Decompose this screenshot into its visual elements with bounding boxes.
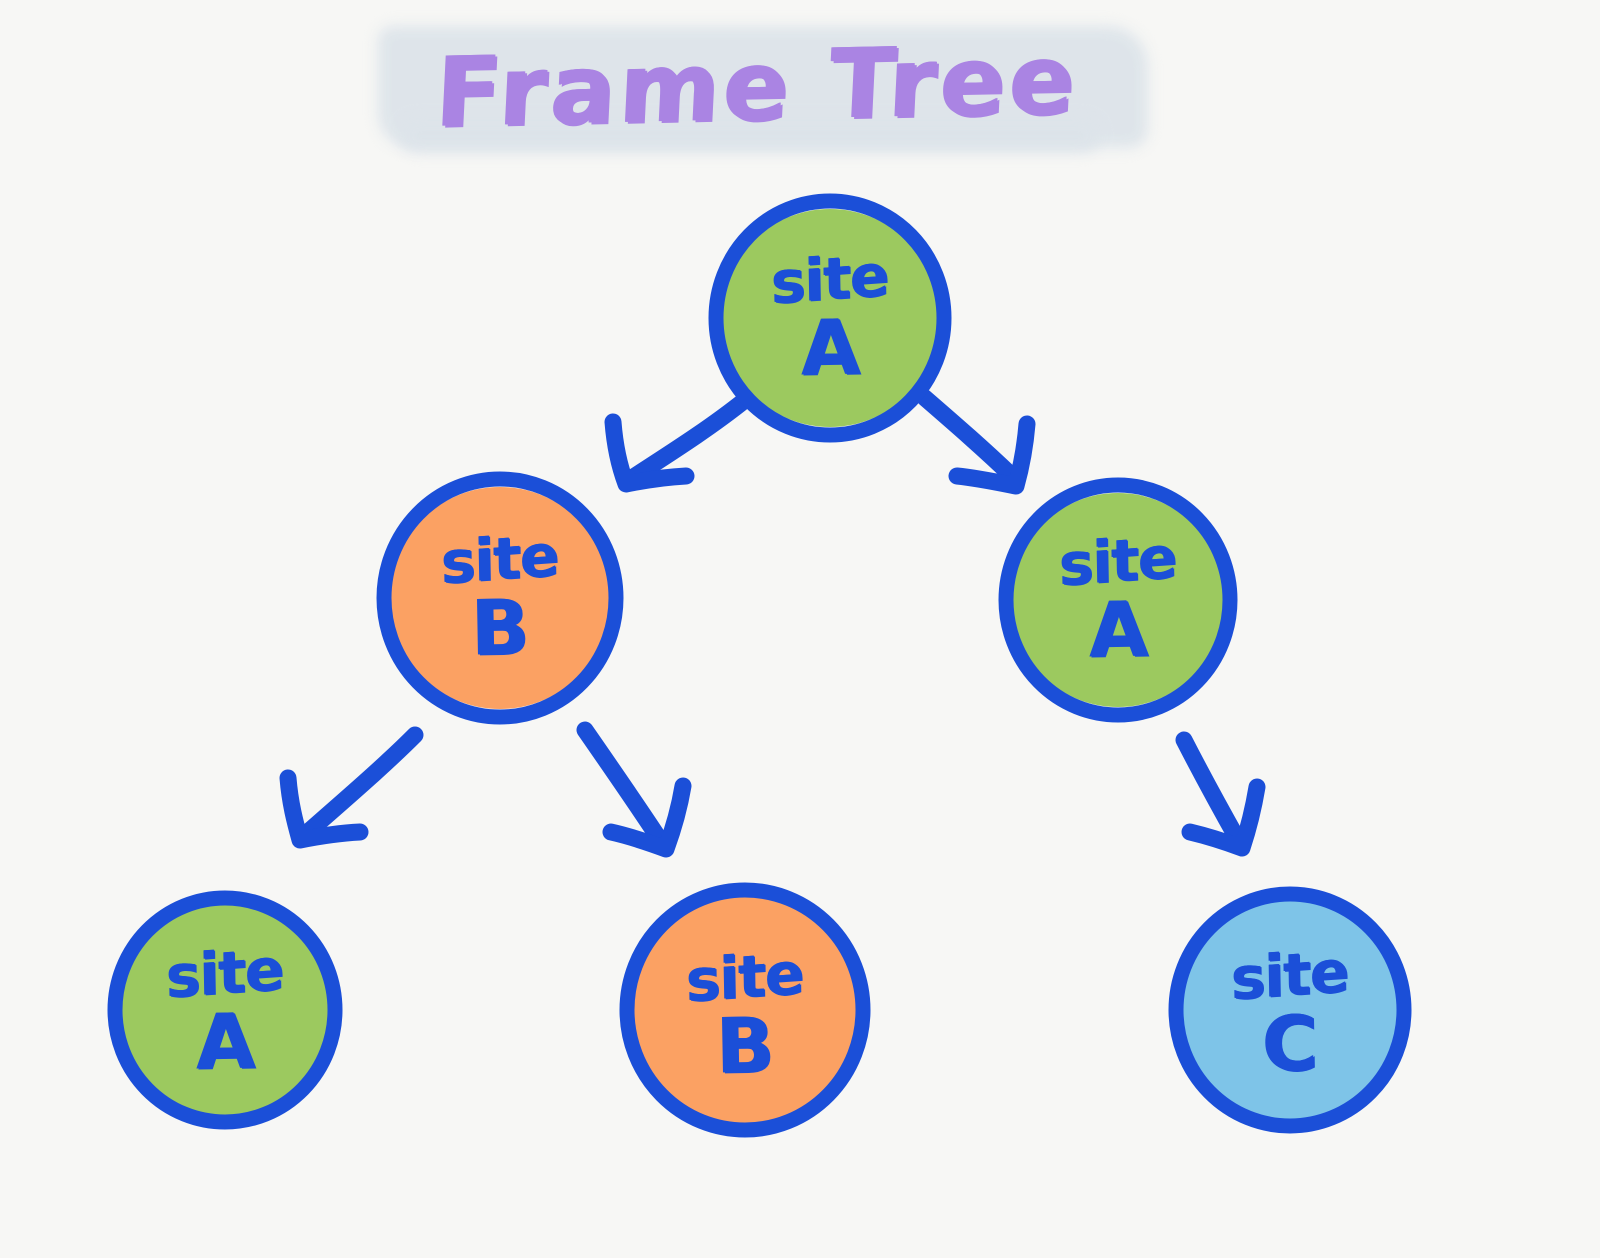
edge-root-to-siteA-right (925, 398, 1027, 486)
node-site-b-left[interactable] (384, 479, 616, 717)
frame-tree-scene: Frame Tree (0, 0, 1600, 1258)
node-site-a-bottom-left[interactable] (115, 898, 335, 1122)
edge-siteA-to-siteC (1184, 740, 1257, 848)
node-site-a-right[interactable] (1006, 485, 1230, 715)
node-site-b-bottom-middle[interactable] (627, 890, 863, 1130)
edge-siteB-to-siteB-bottommiddle (585, 730, 683, 849)
diagram-canvas: Frame Tree (0, 0, 1600, 1258)
edge-root-to-siteB (613, 400, 745, 484)
node-site-c-bottom-right[interactable] (1176, 894, 1404, 1126)
edge-siteB-to-siteA-bottomleft (288, 735, 415, 840)
tree-graphics (0, 0, 1600, 1258)
node-root-site-a[interactable] (716, 201, 944, 435)
